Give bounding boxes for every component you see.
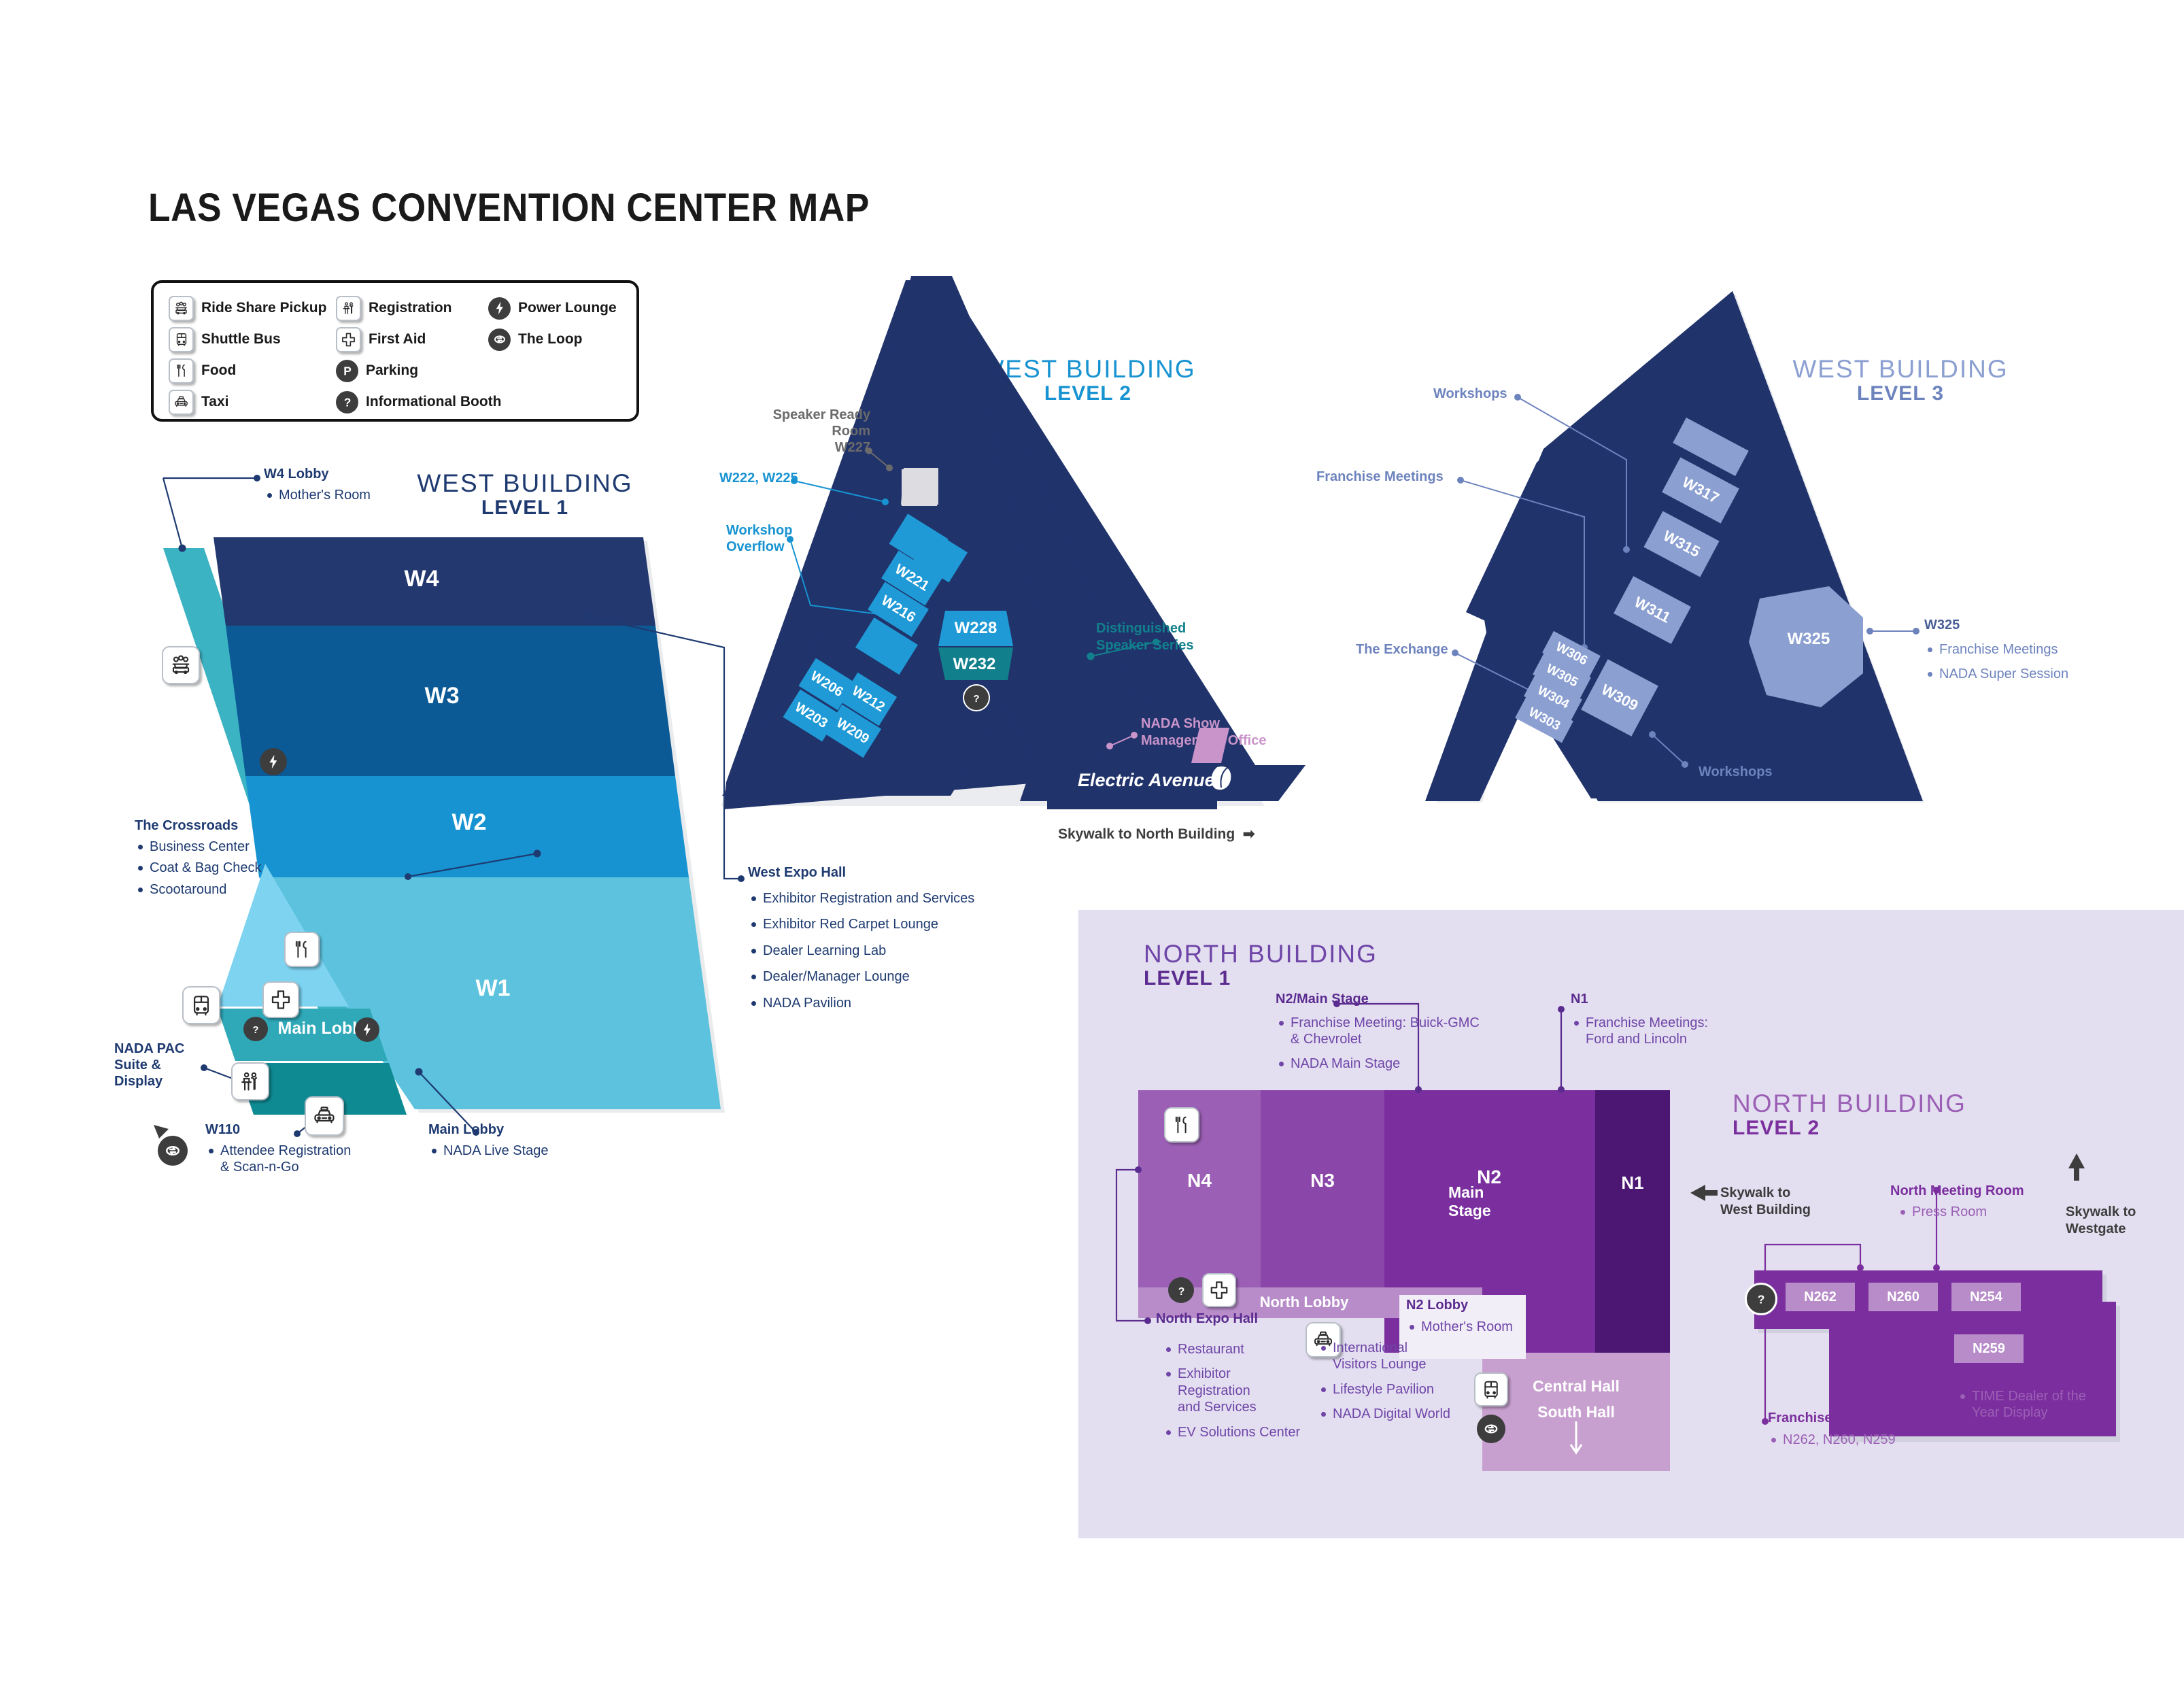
callout-title: N2/Main Stage xyxy=(1276,992,1480,1007)
callout-item: Exhibitor Registration and Services xyxy=(748,890,974,907)
legend-label: Food xyxy=(201,362,236,379)
hall-label-n2-sub: Main Stage xyxy=(1448,1192,1530,1212)
north1-heading-line2: LEVEL 1 xyxy=(1144,967,1378,990)
north2-heading-line2: LEVEL 2 xyxy=(1733,1117,1966,1140)
callout-title: N2 Lobby xyxy=(1406,1298,1513,1313)
label-skywalk-westgate: Skywalk to Westgate xyxy=(2066,1204,2136,1238)
power-lounge-icon[interactable] xyxy=(260,748,287,775)
arrow-right-icon: ➡ xyxy=(1239,826,1255,842)
callout-item: Attendee Registration & Scan-n-Go xyxy=(205,1143,351,1176)
svg-text:?: ? xyxy=(973,693,979,705)
the-loop-icon[interactable] xyxy=(158,1136,188,1166)
power-lounge-icon[interactable] xyxy=(355,1017,379,1042)
legend-item-food: Food xyxy=(169,355,326,386)
first-aid-icon[interactable] xyxy=(1202,1273,1236,1307)
west1-heading-line1: WEST BUILDING xyxy=(416,471,634,496)
callout-w325: W325 Franchise Meetings NADA Super Sessi… xyxy=(1924,618,2068,683)
shuttle-bus-icon[interactable] xyxy=(1474,1372,1508,1406)
label-nada-show-management-office: NADA Show Management Office xyxy=(1141,715,1266,749)
callout-n1: N1 Franchise Meetings: Ford and Lincoln xyxy=(1571,992,1708,1048)
ride-share-icon xyxy=(169,296,194,321)
registration-icon xyxy=(336,296,361,321)
svg-text:?: ? xyxy=(343,396,351,409)
info-booth-icon[interactable]: ? xyxy=(1745,1283,1777,1315)
north-expo-items-col1: Restaurant Exhibitor Registration and Se… xyxy=(1163,1333,1306,1440)
callout-item: International Visitors Lounge xyxy=(1318,1340,1467,1373)
room-w228[interactable]: W228 xyxy=(943,612,1008,645)
food-icon xyxy=(169,358,194,384)
north-expo-items-col2: International Visitors Lounge Lifestyle … xyxy=(1318,1332,1467,1423)
callout-item: Franchise Meetings xyxy=(1924,641,2068,658)
label-franchise-meetings: Franchise Meetings xyxy=(1316,469,1444,485)
callout-west-expo-hall: West Expo Hall Exhibitor Registration an… xyxy=(748,865,974,1011)
label-speaker-ready-room: Speaker Ready Room W227 xyxy=(741,407,870,456)
legend-item-taxi: Taxi xyxy=(169,386,326,418)
legend-label: Parking xyxy=(366,362,418,379)
north-meeting-items: Press Room xyxy=(1897,1202,1987,1220)
legend-item-first-aid: First Aid xyxy=(336,324,501,355)
callout-item: NADA Live Stage xyxy=(428,1143,549,1159)
label-north-meeting-room: North Meeting Room xyxy=(1890,1183,2024,1199)
legend-label: Ride Share Pickup xyxy=(201,300,326,316)
hall-label-w1: W1 xyxy=(452,973,534,1004)
north-lobby-label: North Lobby xyxy=(1236,1291,1372,1314)
label-the-exchange: The Exchange xyxy=(1356,642,1448,658)
taxi-icon xyxy=(169,390,194,415)
callout-title: Main Lobby xyxy=(428,1122,549,1138)
callout-n2-lobby: N2 Lobby Mother's Room xyxy=(1406,1298,1513,1335)
callout-item: NADA Digital World xyxy=(1318,1406,1467,1422)
legend-label: The Loop xyxy=(518,331,582,348)
room-n254[interactable]: N254 xyxy=(1951,1283,2021,1311)
hall-label-n3: N3 xyxy=(1282,1168,1363,1193)
callout-north-expo-hall: North Expo Hall xyxy=(1156,1311,1258,1327)
first-aid-icon[interactable] xyxy=(262,981,299,1018)
callout-item: Press Room xyxy=(1897,1204,1987,1220)
label-w222-w225: W222, W225 xyxy=(719,471,798,486)
callout-crossroads: The Crossroads Business Center Coat & Ba… xyxy=(135,818,262,898)
central-hall-label: Central Hall xyxy=(1496,1375,1656,1397)
callout-main-lobby: Main Lobby NADA Live Stage xyxy=(428,1122,549,1159)
label-distinguished-speaker-series: Distinguished Speaker Series xyxy=(1096,620,1193,654)
info-booth-icon[interactable]: ? xyxy=(1168,1277,1194,1303)
callout-item: Franchise Meeting: Buick-GMC & Chevrolet xyxy=(1276,1015,1480,1048)
callout-item: Coat & Bag Check xyxy=(135,860,262,876)
callout-item: Exhibitor Registration and Services xyxy=(1163,1366,1306,1415)
west3-heading-line2: LEVEL 3 xyxy=(1775,382,2026,405)
legend-item-info-booth: ? Informational Booth xyxy=(336,386,501,418)
hall-label-n4: N4 xyxy=(1159,1168,1240,1193)
label-skywalk-west-building: Skywalk to West Building xyxy=(1720,1185,1811,1219)
svg-text:?: ? xyxy=(1178,1285,1184,1297)
legend-item-ride-share: Ride Share Pickup xyxy=(169,292,326,324)
callout-nada-pac: NADA PAC Suite & Display xyxy=(114,1041,184,1090)
callout-title: W4 Lobby xyxy=(264,467,371,482)
callout-item: Scootaround xyxy=(135,881,262,898)
callout-item: Restaurant xyxy=(1163,1341,1306,1357)
info-booth-icon[interactable]: ? xyxy=(243,1017,268,1041)
callout-title: North Expo Hall xyxy=(1156,1311,1258,1327)
legend-label: First Aid xyxy=(369,331,426,348)
room-n262[interactable]: N262 xyxy=(1786,1283,1855,1311)
legend-item-the-loop: The Loop xyxy=(488,324,617,355)
callout-item: Franchise Meetings: Ford and Lincoln xyxy=(1571,1015,1708,1048)
callout-item: TIME Dealer of the Year Display xyxy=(1957,1388,2087,1421)
info-booth-icon: ? xyxy=(336,391,358,413)
callout-item: N262, N260, N259 xyxy=(1768,1432,1899,1448)
callout-franchise-meetings-n2: Franchise Meetings: N262, N260, N259 xyxy=(1768,1411,1899,1448)
first-aid-icon xyxy=(336,327,361,352)
south-hall-label: South Hall xyxy=(1496,1401,1656,1423)
north1-heading-line1: NORTH BUILDING xyxy=(1144,941,1378,967)
callout-item: EV Solutions Center xyxy=(1163,1424,1306,1440)
ride-share-icon[interactable] xyxy=(162,646,200,684)
callout-title: W325 xyxy=(1924,618,2068,633)
info-booth-icon[interactable]: ? xyxy=(963,684,990,711)
callout-w110: W110 Attendee Registration & Scan-n-Go xyxy=(205,1122,351,1176)
room-w315[interactable]: W315 xyxy=(1643,511,1719,577)
legend-item-shuttle-bus: Shuttle Bus xyxy=(169,324,326,355)
label-workshop-overflow: Workshop Overflow xyxy=(726,522,792,555)
west2-heading: WEST BUILDING LEVEL 2 xyxy=(979,356,1197,405)
page-title: LAS VEGAS CONVENTION CENTER MAP xyxy=(148,185,870,231)
speaker-ready-room-shape xyxy=(901,468,938,505)
registration-icon[interactable] xyxy=(231,1062,269,1100)
west3-heading: WEST BUILDING LEVEL 3 xyxy=(1775,356,2026,405)
label-workshops-bottom: Workshops xyxy=(1699,764,1773,780)
food-icon[interactable] xyxy=(284,932,320,967)
the-loop-icon[interactable] xyxy=(1477,1415,1505,1443)
north2-heading-line1: NORTH BUILDING xyxy=(1733,1091,1966,1117)
callout-north-level2-lobby: North Level 2 Lobby TIME Dealer of the Y… xyxy=(1957,1367,2087,1421)
north1-heading: NORTH BUILDING LEVEL 1 xyxy=(1144,941,1378,990)
legend-item-registration: Registration xyxy=(336,292,501,324)
hall-label-w3: W3 xyxy=(401,680,483,711)
room-w311[interactable]: W311 xyxy=(1614,576,1691,644)
hall-label-n1: N1 xyxy=(1595,1171,1670,1194)
svg-text:?: ? xyxy=(252,1024,258,1036)
north2-heading: NORTH BUILDING LEVEL 2 xyxy=(1733,1091,1966,1140)
room-n260[interactable]: N260 xyxy=(1869,1283,1938,1311)
room-w232[interactable]: W232 xyxy=(942,649,1007,680)
hall-label-w2: W2 xyxy=(428,807,510,838)
callout-n2-main-stage: N2/Main Stage Franchise Meeting: Buick-G… xyxy=(1276,992,1480,1072)
legend-item-power-lounge: Power Lounge xyxy=(488,292,617,324)
food-icon[interactable] xyxy=(1164,1107,1199,1143)
callout-title: West Expo Hall xyxy=(748,865,974,881)
west1-heading: WEST BUILDING LEVEL 1 xyxy=(416,471,634,520)
callout-item: Business Center xyxy=(135,839,262,855)
callout-title: The Crossroads xyxy=(135,818,262,834)
callout-title: North Level 2 Lobby xyxy=(1957,1367,2087,1383)
callout-item: Exhibitor Red Carpet Lounge xyxy=(748,916,974,932)
callout-item: NADA Pavilion xyxy=(748,995,974,1011)
svg-text:P: P xyxy=(343,365,352,378)
west1-heading-line2: LEVEL 1 xyxy=(416,496,634,520)
svg-text:?: ? xyxy=(1758,1293,1765,1306)
label-skywalk-north: Skywalk to North Building ➡ xyxy=(1058,826,1255,843)
room-w325-label[interactable]: W325 xyxy=(1761,626,1856,653)
west2-heading-line1: WEST BUILDING xyxy=(979,356,1197,382)
callout-item: Mother's Room xyxy=(264,487,371,503)
callout-item: NADA Super Session xyxy=(1924,666,2068,682)
label-electric-avenue: Electric Avenue xyxy=(1078,770,1215,791)
room-n259[interactable]: N259 xyxy=(1954,1334,2024,1363)
hall-label-w4: W4 xyxy=(381,563,462,594)
legend-label: Power Lounge xyxy=(518,300,617,316)
callout-title: W110 xyxy=(205,1122,351,1138)
callout-w4-lobby: W4 Lobby Mother's Room xyxy=(264,467,371,503)
west2-heading-line2: LEVEL 2 xyxy=(979,382,1197,405)
west3-heading-line1: WEST BUILDING xyxy=(1775,356,2026,382)
callout-title: N1 xyxy=(1571,992,1708,1007)
parking-icon: P xyxy=(336,360,358,382)
shuttle-bus-icon xyxy=(169,327,194,352)
callout-item: Dealer Learning Lab xyxy=(748,943,974,959)
legend-item-parking: P Parking xyxy=(336,355,501,386)
shuttle-bus-icon[interactable] xyxy=(182,986,220,1024)
callout-item: Lifestyle Pavilion xyxy=(1318,1381,1467,1398)
power-lounge-icon xyxy=(488,297,511,320)
legend-label: Registration xyxy=(369,300,452,316)
callout-item: NADA Main Stage xyxy=(1276,1056,1480,1072)
the-loop-icon xyxy=(488,328,511,351)
legend-label: Shuttle Bus xyxy=(201,331,281,348)
callout-item: Dealer/Manager Lounge xyxy=(748,968,974,985)
map-legend: Ride Share Pickup Shuttle Bus Food xyxy=(151,280,639,422)
legend-label: Informational Booth xyxy=(366,394,501,410)
label-workshops-top: Workshops xyxy=(1433,386,1507,402)
legend-label: Taxi xyxy=(201,394,228,410)
callout-title: Franchise Meetings: xyxy=(1768,1411,1899,1426)
crossroads-strip xyxy=(163,548,367,1030)
